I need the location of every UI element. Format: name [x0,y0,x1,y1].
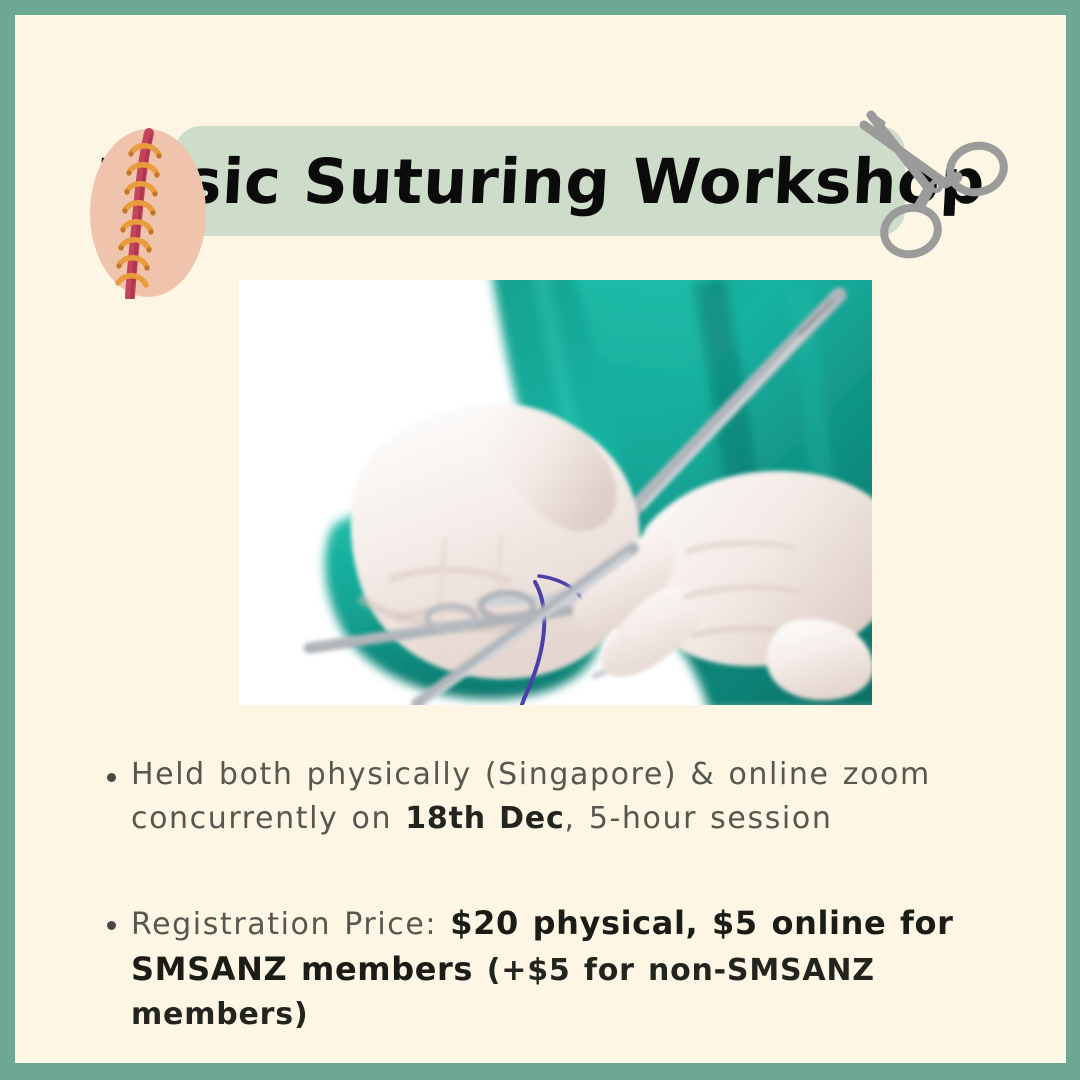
bullet-registration-price-text: Registration Price: $20 physical, $5 onl… [131,901,1037,1037]
workshop-photo [239,280,872,705]
bullet-session-details-text: Held both physically (Singapore) & onlin… [131,753,1037,841]
bullet-registration-price: Registration Price: $20 physical, $5 onl… [107,901,1037,1037]
page-title: Basic Suturing Workshop [172,126,908,236]
sutured-wound-icon [87,127,209,299]
bullet-2-seg-0: Registration Price: [131,907,450,942]
bullet-1-seg-2: , 5-hour session [565,801,833,836]
bullet-dot-icon [107,773,116,782]
surgical-forceps-icon [853,103,1013,273]
details-list: Held both physically (Singapore) & onlin… [107,753,1037,1063]
poster-inner-panel: Basic Suturing Workshop [15,15,1066,1063]
bullet-1-seg-1: 18th Dec [405,801,564,836]
bullet-session-details: Held both physically (Singapore) & onlin… [107,753,1037,841]
poster-root: Basic Suturing Workshop [0,0,1080,1080]
title-banner: Basic Suturing Workshop [175,126,905,236]
bullet-dot-icon [107,921,116,930]
